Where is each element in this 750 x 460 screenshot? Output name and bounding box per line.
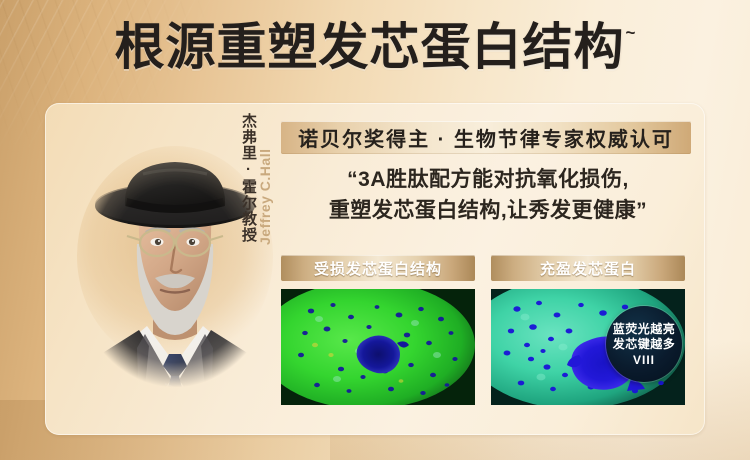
expert-quote: “3A胜肽配方能对抗氧化损伤, 重塑发芯蛋白结构,让秀发更健康” (285, 165, 691, 226)
expert-quote-line-1: “3A胜肽配方能对抗氧化损伤, (285, 165, 691, 196)
badge-roman-numeral: VIII (633, 353, 655, 367)
credential-banner: 诺贝尔奖得主 · 生物节律专家权威认可 (281, 121, 691, 154)
comparison-label-left: 受损发芯蛋白结构 (281, 255, 475, 281)
promo-banner-root: 根源重塑发芯蛋白结构~ (0, 0, 750, 460)
page-title-text: 根源重塑发芯蛋白结构 (115, 22, 625, 72)
credential-banner-text: 诺贝尔奖得主 · 生物节律专家权威认可 (298, 123, 674, 152)
page-title-superscript: ~ (626, 24, 636, 41)
expert-quote-line-2: 重塑发芯蛋白结构,让秀发更健康” (285, 196, 691, 227)
comparison-label-left-text: 受损发芯蛋白结构 (314, 258, 442, 279)
badge-line-2: 发芯键越多 (613, 337, 676, 352)
badge-line-1: 蓝荧光越亮 (613, 322, 676, 337)
micrograph-damaged (281, 289, 475, 405)
content-card: 杰弗里·霍尔教授 Jeffrey C.Hall 诺贝尔奖得主 · 生物节律专家权… (45, 103, 705, 435)
expert-name-cn: 杰弗里·霍尔教授 (235, 113, 257, 243)
expert-name-en: Jeffrey C.Hall (257, 113, 273, 245)
comparison-label-right-text: 充盈发芯蛋白 (540, 258, 636, 279)
expert-name-block: 杰弗里·霍尔教授 Jeffrey C.Hall (235, 111, 287, 301)
comparison-label-right: 充盈发芯蛋白 (491, 255, 685, 281)
page-title: 根源重塑发芯蛋白结构~ (0, 22, 750, 72)
status-badge: 蓝荧光越亮 发芯键越多 VIII (606, 306, 682, 382)
